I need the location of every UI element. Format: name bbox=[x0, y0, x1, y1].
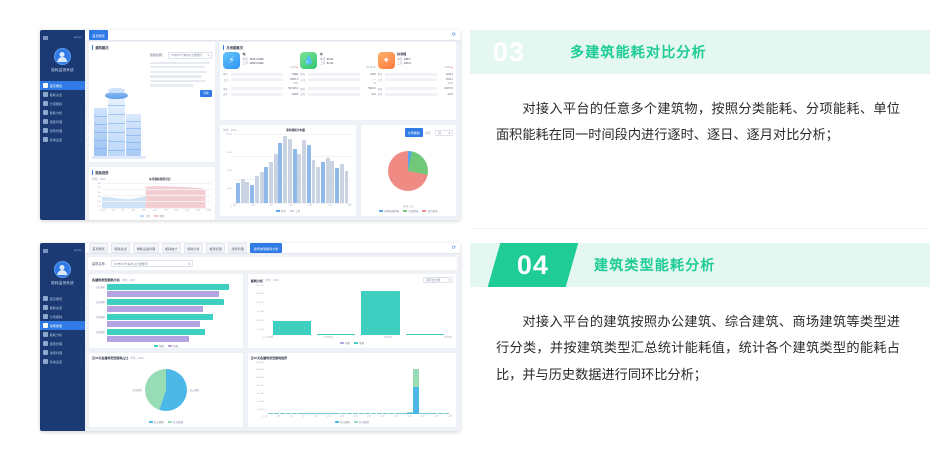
hbar-fill bbox=[107, 284, 229, 290]
menu-icon bbox=[43, 332, 48, 337]
tab-3[interactable]: 能耗统计 bbox=[162, 243, 181, 253]
kpi-bar2-label: 去年 bbox=[300, 92, 306, 96]
kpi-bar2-track bbox=[308, 87, 360, 90]
trend-up-icon: ▲ bbox=[451, 66, 453, 69]
building-description bbox=[150, 62, 212, 87]
building-filter-bar: 建筑名称： XX市XX汽车办公大厦楼宇 ▾ bbox=[88, 257, 457, 270]
pie-toolbar-button[interactable]: 分项能耗 bbox=[405, 128, 423, 137]
menu-icon bbox=[43, 305, 48, 310]
area-chart-sub: 单位：kWh bbox=[92, 177, 105, 181]
kpi-bar-track bbox=[308, 78, 360, 81]
sidebar-item-6[interactable]: 系统设置› bbox=[40, 135, 85, 144]
legend-item-1: 本期 bbox=[354, 341, 364, 345]
kpi-value-number: 51.01 bbox=[327, 62, 334, 65]
building-info: 建筑名称： XX市XX汽车办公大厦楼宇 ▾ bbox=[150, 52, 212, 159]
kpi-value-row-1: 上月51.01 bbox=[320, 61, 376, 65]
building-tower-right bbox=[126, 114, 141, 156]
x-tick-13: 27日 bbox=[434, 415, 438, 419]
stack-title: 近30天各建筑类型能耗趋势 bbox=[251, 356, 287, 360]
vbar-legend: 同期本期 bbox=[251, 341, 453, 345]
legend-label: 本月 bbox=[159, 214, 164, 218]
x-tick-5: 16日 bbox=[153, 209, 157, 213]
y-tick-4: 60,000 bbox=[251, 393, 264, 395]
y-tick-1: 120,000 bbox=[251, 369, 264, 371]
hbar-title: 各建筑类型能耗分析 bbox=[92, 277, 120, 282]
legend-item-1: 空调用电 bbox=[403, 209, 418, 213]
x-tick-5: 20时 bbox=[328, 204, 332, 208]
kpi-value-number: 1456.4 kWh bbox=[249, 62, 263, 65]
legend-swatch bbox=[403, 210, 407, 212]
menu-icon bbox=[43, 137, 48, 142]
y-tick-1: 100,000 bbox=[251, 293, 264, 295]
kpi-bar2-row-0: 本年5946.3 bbox=[300, 87, 375, 91]
sidebar-menu: 首页概览›能耗总览›分项能耗›建筑类型›能耗分析›报表管理›建筑管理›系统设置› bbox=[40, 294, 85, 366]
x-tick-9: 19日 bbox=[380, 415, 384, 419]
chevron-right-icon: › bbox=[81, 120, 82, 124]
kpi-bar-group-1: 本月2403上月—%本年5946.3去年913 bbox=[300, 72, 375, 96]
x-tick-0: 0时 bbox=[233, 204, 236, 208]
y-tick-3: 150 bbox=[92, 196, 101, 198]
sidebar-item-label: 首页概览 bbox=[50, 83, 63, 88]
y-tick-3: 60,000 bbox=[251, 311, 264, 313]
kpi-value-number: 183.4 bbox=[404, 62, 411, 65]
menu-toggle-icon[interactable] bbox=[43, 249, 48, 253]
sidebar-item-4[interactable]: 能耗分析› bbox=[40, 330, 85, 339]
legend-swatch bbox=[276, 210, 280, 212]
hour-bar-7 bbox=[269, 162, 273, 202]
kpi-value-number: 1516.4 kWh bbox=[249, 58, 263, 61]
hbar-track bbox=[107, 329, 240, 335]
area-chart-canvas bbox=[102, 183, 211, 208]
area-chart-x-axis: 1日4日7日10日13日16日19日22日25日28日31日 bbox=[102, 209, 211, 213]
tab-5[interactable]: 报表管理 bbox=[206, 243, 225, 253]
kpi-bar2-track bbox=[385, 87, 437, 90]
x-tick-1: 4日 bbox=[112, 209, 115, 213]
kpi-units: ⚡电本月1516.4 kWh上月1456.4 kWh3.1%▲💧水本月36.01… bbox=[223, 52, 453, 69]
tab-7[interactable]: 建筑类型能耗分析 bbox=[250, 243, 282, 253]
kpi-bar2-value: 2437 bbox=[439, 93, 453, 96]
y-tick-6: 0 bbox=[92, 210, 101, 212]
menu-icon bbox=[43, 323, 48, 328]
building-detail-button[interactable]: 详情 bbox=[200, 90, 212, 97]
sidebar-item-label: 报表管理 bbox=[50, 341, 63, 346]
x-tick-3: 10日 bbox=[131, 209, 135, 213]
y-tick-3: 3000 bbox=[223, 188, 232, 190]
area-chart-title: 能耗趋势 bbox=[92, 170, 212, 175]
sidebar-item-3[interactable]: 建筑类型› bbox=[40, 321, 85, 330]
legend-swatch bbox=[354, 342, 358, 344]
stack-plot: 140,000120,000100,00080,00060,00040,0002… bbox=[251, 362, 453, 419]
x-tick-8: 25日 bbox=[185, 209, 189, 213]
sidebar-item-label: 能耗分析 bbox=[50, 332, 63, 337]
kpi-value-key: 上月 bbox=[320, 61, 325, 65]
hbar-track bbox=[107, 314, 240, 320]
hbar-chart-legend: 本期同期 bbox=[92, 344, 240, 348]
building-illustration bbox=[92, 52, 146, 159]
x-tick-11: 23日 bbox=[407, 415, 411, 419]
kpi-bar-row-1: 上月13651.8 bbox=[223, 78, 298, 82]
area-chart-inner-title: 本月能耗趋势对比 bbox=[149, 177, 171, 181]
x-tick-7: 15日 bbox=[353, 415, 357, 419]
y-tick-0: 300 bbox=[92, 183, 101, 185]
hbar-fill bbox=[107, 321, 200, 327]
type-bar-0 bbox=[273, 321, 311, 335]
sidebar-item-2[interactable]: 分项能耗› bbox=[40, 99, 85, 108]
hbar-row-2-0: 商场建筑 bbox=[92, 314, 240, 320]
chevron-right-icon: › bbox=[81, 111, 82, 115]
x-tick-0: 办公建筑 bbox=[265, 336, 273, 340]
legend-item-0: 本期 bbox=[154, 344, 164, 348]
menu-icon bbox=[43, 101, 48, 106]
area-chart-plot: 300250200150100500 bbox=[92, 183, 212, 213]
legend-label: 办公建筑 bbox=[340, 420, 350, 424]
legend-swatch bbox=[154, 215, 158, 217]
hbar-fill bbox=[107, 314, 213, 320]
kpi-bar-value: 13651.8 bbox=[284, 78, 298, 81]
chevron-down-icon: ▾ bbox=[208, 53, 209, 57]
sidebar-item-2[interactable]: 分项能耗› bbox=[40, 312, 85, 321]
legend-swatch bbox=[379, 210, 383, 212]
stack-x-axis: 1日3日5日7日9日11日13日15日17日19日21日23日25日27日30日 bbox=[265, 415, 452, 419]
x-tick-14: 30日 bbox=[448, 415, 452, 419]
dashboard2-right-column: 能耗分析 单位：kWh 同环比分析 ▾ 120,000100,00080,000… bbox=[247, 273, 457, 428]
area-chart-title-text: 能耗趋势 bbox=[95, 170, 108, 175]
hbar-fill bbox=[107, 336, 189, 342]
topbar-actions: ⟳ bbox=[452, 32, 456, 38]
bar-chart-legend: 本月上月 bbox=[223, 209, 353, 213]
kpi-bar2-value: 5946.3 bbox=[362, 87, 376, 90]
dashboard1-left-column: 建筑概况 bbox=[88, 41, 216, 217]
legend-swatch bbox=[340, 342, 344, 344]
hbar-chart-rows: 办公建筑综合建筑商场建筑其他建筑 bbox=[92, 284, 240, 343]
hour-bar-13 bbox=[297, 154, 301, 202]
dashboard1-sidebar: admin 能耗监测系统 首页概览›能耗总览›分项能耗›能耗分析›报表管理›建筑… bbox=[40, 30, 85, 220]
chevron-right-icon: › bbox=[81, 84, 82, 88]
hbar-track bbox=[107, 321, 240, 327]
hour-bar-21 bbox=[335, 168, 339, 203]
kpi-bar-group-2: 本月1293.6上月1336.42.6%本年40076.5去年2437 bbox=[378, 72, 453, 96]
legend-label: 空调用电 bbox=[408, 209, 418, 213]
kpi-bar2-value: 913 bbox=[362, 93, 376, 96]
chevron-down-icon: ▾ bbox=[188, 262, 189, 266]
x-tick-1: 4时 bbox=[251, 204, 254, 208]
building-roof-disc bbox=[105, 92, 128, 99]
pie-toolbar-label: 时间： bbox=[425, 131, 433, 135]
hour-bar-10 bbox=[283, 136, 287, 202]
tab-4[interactable]: 能耗分析 bbox=[184, 243, 203, 253]
stack-bar-25 bbox=[419, 413, 424, 414]
vbar-sub: 单位：kWh bbox=[265, 278, 278, 282]
kpi-unit-name: 水 bbox=[320, 52, 376, 56]
chevron-down-icon: ▾ bbox=[449, 131, 450, 135]
legend-label: 上月 bbox=[295, 209, 300, 213]
stack-head: 近30天各建筑类型能耗趋势 bbox=[251, 356, 453, 360]
tab-home[interactable]: 首页概览 bbox=[89, 30, 108, 40]
hour-bar-15 bbox=[307, 145, 311, 203]
sidebar-item-6[interactable]: 建筑管理› bbox=[40, 348, 85, 357]
section-04-band: 04 建筑类型能耗分析 bbox=[470, 243, 930, 287]
tab-0[interactable]: 首页概览 bbox=[89, 243, 108, 253]
hour-bar-2 bbox=[245, 182, 249, 203]
pie2-title: 近30天各建筑类型能耗占比 bbox=[92, 356, 128, 360]
legend-swatch bbox=[354, 421, 358, 423]
pie-chart-area bbox=[364, 139, 453, 204]
legend-label: 综合建筑 bbox=[359, 420, 369, 424]
type-bar-2 bbox=[361, 291, 399, 335]
hbar-label: 综合建筑 bbox=[92, 300, 105, 304]
chevron-right-icon: › bbox=[81, 93, 82, 97]
building-select-label: 建筑名称： bbox=[150, 53, 165, 57]
sidebar-item-1[interactable]: 能耗总览› bbox=[40, 303, 85, 312]
trend-up-icon: ▲ bbox=[296, 66, 298, 69]
kpi-bar2-row-0: 本年40076.5 bbox=[378, 87, 453, 91]
kpi-bar2-value: 587163.3 bbox=[284, 87, 298, 90]
sidebar-item-7[interactable]: 系统设置› bbox=[40, 357, 85, 366]
x-tick-10: 21日 bbox=[394, 415, 398, 419]
x-tick-7: 22日 bbox=[174, 209, 178, 213]
sidebar-item-5[interactable]: 建筑管理› bbox=[40, 126, 85, 135]
y-tick-6: 20,000 bbox=[251, 409, 264, 411]
kpi-value-key: 本月 bbox=[320, 57, 325, 61]
legend-swatch bbox=[149, 421, 153, 423]
menu-icon bbox=[43, 341, 48, 346]
dashboard2-sidebar: admin 能耗监测系统 首页概览›能耗总览›分项能耗›建筑类型›能耗分析›报表… bbox=[40, 243, 85, 431]
bar-chart-bars bbox=[233, 134, 352, 203]
y-tick-2: 200 bbox=[92, 192, 101, 194]
hour-bar-5 bbox=[260, 172, 264, 202]
hour-bar-17 bbox=[316, 167, 320, 203]
kpi-bar-pct: % bbox=[300, 83, 375, 85]
hbar-track bbox=[107, 299, 240, 305]
kpi-bar2-label: 本年 bbox=[223, 87, 229, 91]
kpi-unit-name: 电 bbox=[243, 52, 299, 56]
building-tower-left bbox=[94, 108, 107, 156]
sidebar-item-label: 建筑管理 bbox=[50, 350, 63, 355]
y-tick-5: 40,000 bbox=[251, 401, 264, 403]
kpi-bar2-value: 40076.5 bbox=[439, 87, 453, 90]
avatar bbox=[54, 261, 71, 278]
kpi-bar-label: 本月 bbox=[223, 72, 229, 76]
sidebar-item-4[interactable]: 报表管理› bbox=[40, 117, 85, 126]
x-tick-9: 28日 bbox=[196, 209, 200, 213]
kpi-bar-row-0: 本月1293.6 bbox=[378, 72, 453, 76]
sidebar-item-1[interactable]: 能耗总览› bbox=[40, 90, 85, 99]
kpi-bar-group-0: 本月15982上月13651.81.8%本年587163.3去年19843 bbox=[223, 72, 298, 96]
x-tick-2: 8时 bbox=[270, 204, 273, 208]
y-tick-0: 120,000 bbox=[251, 285, 264, 287]
vbar-mode-select[interactable]: 同环比分析 ▾ bbox=[423, 277, 453, 283]
menu-icon bbox=[43, 110, 48, 115]
tab-6[interactable]: 建筑管理 bbox=[228, 243, 247, 253]
legend-label: 上月 bbox=[145, 214, 150, 218]
sidebar-profile: 能耗监测系统 bbox=[51, 48, 74, 73]
x-tick-3: 12时 bbox=[288, 204, 292, 208]
x-tick-3: 7日 bbox=[302, 415, 305, 419]
hbar-sub: 单位：kWh bbox=[122, 278, 135, 282]
x-tick-3: 其他建筑 bbox=[444, 336, 452, 340]
y-tick-4: 0 bbox=[223, 206, 232, 208]
section-divider bbox=[470, 228, 930, 229]
menu-icon bbox=[43, 92, 48, 97]
y-tick-1: 250 bbox=[92, 187, 101, 189]
sidebar-item-3[interactable]: 能耗分析› bbox=[40, 108, 85, 117]
x-tick-6: 13日 bbox=[340, 415, 344, 419]
hbar-track bbox=[107, 284, 240, 290]
hour-bar-18 bbox=[321, 162, 325, 202]
kpi-bar-value: 1336.4 bbox=[439, 78, 453, 81]
kpi-bar-value: 15982 bbox=[284, 73, 298, 76]
y-tick-5: 50 bbox=[92, 206, 101, 208]
legend-swatch bbox=[290, 210, 294, 212]
pie2-head: 近30天各建筑类型能耗占比 单位：kWh bbox=[92, 356, 240, 360]
building-select-value: XX市XX汽车办公大厦楼宇 bbox=[171, 53, 202, 57]
sidebar-item-label: 分项能耗 bbox=[50, 314, 63, 319]
sidebar-item-label: 建筑管理 bbox=[50, 128, 63, 133]
section-03-title: 多建筑能耗对比分析 bbox=[570, 42, 707, 62]
bar-chart-plot: 120009000600030000 0时4时8时12时16时20时23时 bbox=[223, 134, 353, 208]
hbar-track bbox=[107, 306, 240, 312]
sidebar-item-0[interactable]: 首页概览› bbox=[40, 81, 85, 90]
legend-label: 综合建筑 bbox=[173, 420, 183, 424]
kpi-bar-label: 上月 bbox=[300, 78, 306, 82]
user-menu-label[interactable]: admin bbox=[74, 36, 82, 39]
chevron-right-icon: › bbox=[81, 102, 82, 106]
sidebar-menu: 首页概览›能耗总览›分项能耗›能耗分析›报表管理›建筑管理›系统设置› bbox=[40, 81, 85, 144]
kpi-bar-label: 上月 bbox=[378, 78, 384, 82]
area-chart-legend: 上月本月 bbox=[92, 214, 212, 218]
x-tick-6: 23时 bbox=[347, 204, 351, 208]
y-tick-6: 0 bbox=[251, 337, 264, 339]
section-03-paragraph: 对接入平台的任意多个建筑物，按照分类能耗、分项能耗、单位面积能耗在同一时间段内进… bbox=[496, 96, 900, 149]
chevron-right-icon: › bbox=[81, 351, 82, 355]
brand-label: 能耗监测系统 bbox=[51, 68, 74, 73]
kpi-value-number: 188.7 bbox=[404, 58, 411, 61]
tab-1[interactable]: 能耗总览 bbox=[111, 243, 130, 253]
sidebar-item-label: 能耗总览 bbox=[50, 305, 63, 310]
sidebar-item-label: 系统设置 bbox=[50, 359, 63, 364]
legend-label: 办公建筑 bbox=[154, 420, 164, 424]
tab-2[interactable]: 物联设备管理 bbox=[133, 243, 158, 253]
sidebar-item-5[interactable]: 报表管理› bbox=[40, 339, 85, 348]
vbar-title: 能耗分析 bbox=[251, 278, 263, 283]
user-menu-label[interactable]: admin bbox=[74, 249, 82, 252]
kpi-bar-pct: 2.6% bbox=[378, 83, 453, 85]
menu-toggle-icon[interactable] bbox=[43, 36, 48, 40]
kpi-bar2-row-1: 去年2437 bbox=[378, 92, 453, 96]
x-tick-6: 19日 bbox=[163, 209, 167, 213]
legend-item-1: 综合建筑 bbox=[354, 420, 369, 424]
kpi-value-key: 本月 bbox=[397, 57, 402, 61]
hbar-row-0-0: 办公建筑 bbox=[92, 284, 240, 290]
x-tick-5: 11日 bbox=[326, 415, 330, 419]
hbar-track bbox=[107, 336, 240, 342]
chevron-right-icon: › bbox=[81, 297, 82, 301]
topbar-actions: ⟳ bbox=[452, 245, 456, 251]
menu-icon bbox=[43, 119, 48, 124]
building-tower-center bbox=[108, 96, 125, 156]
kpi-delta: 2.9%▲ bbox=[445, 66, 453, 69]
x-tick-4: 9日 bbox=[314, 415, 317, 419]
sidebar-item-label: 能耗总览 bbox=[50, 92, 63, 97]
x-tick-4: 16时 bbox=[308, 204, 312, 208]
kpi-bar2-value: 19843 bbox=[284, 93, 298, 96]
pie-period-select[interactable]: 月 ▾ bbox=[435, 130, 453, 136]
legend-swatch bbox=[335, 421, 339, 423]
kpi-value-row-1: 上月183.4 bbox=[397, 61, 453, 65]
refresh-icon[interactable]: ⟳ bbox=[452, 245, 456, 251]
legend-swatch bbox=[140, 215, 144, 217]
pie-period-value: 月 bbox=[438, 131, 441, 135]
kpi-value-key: 上月 bbox=[243, 61, 248, 65]
kpi-bar2-track bbox=[308, 93, 360, 96]
hbar-fill bbox=[107, 299, 224, 305]
legend-item-1: 本月 bbox=[154, 214, 164, 218]
kpi-value-row-0: 本月36.01 bbox=[320, 57, 376, 61]
legend-label: 动力用电 bbox=[428, 209, 438, 213]
sidebar-item-label: 能耗分析 bbox=[50, 110, 63, 115]
kpi-bar2-row-1: 去年19843 bbox=[223, 92, 298, 96]
sidebar-item-label: 分项能耗 bbox=[50, 101, 63, 106]
hbar-row-1-0: 综合建筑 bbox=[92, 299, 240, 305]
legend-item-2: 动力用电 bbox=[422, 209, 437, 213]
kpi-value-row-0: 本月188.7 bbox=[397, 57, 453, 61]
dashboard2-body: 各建筑类型能耗分析 单位：kWh 办公建筑综合建筑商场建筑其他建筑 本期同期 近… bbox=[85, 273, 460, 431]
filter-select[interactable]: XX市XX汽车办公大厦楼宇 ▾ bbox=[111, 260, 193, 267]
stack-bar-28 bbox=[438, 413, 443, 414]
legend-label: 同期 bbox=[345, 341, 350, 345]
dashboard2-tabbar: 首页概览能耗总览物联设备管理能耗统计能耗分析报表管理建筑管理建筑类型能耗分析⟳ bbox=[85, 243, 460, 254]
y-tick-4: 100 bbox=[92, 201, 101, 203]
energy-kpi-card: 月用能概况 ⚡电本月1516.4 kWh上月1456.4 kWh3.1%▲💧水本… bbox=[219, 41, 457, 121]
building-roof-top bbox=[108, 88, 125, 93]
refresh-icon[interactable]: ⟳ bbox=[452, 32, 456, 38]
vbar-head: 能耗分析 单位：kWh 同环比分析 ▾ bbox=[251, 277, 453, 283]
y-tick-5: 20,000 bbox=[251, 329, 264, 331]
kpi-delta: 29.4%▼ bbox=[366, 66, 376, 69]
sidebar-item-0[interactable]: 首页概览› bbox=[40, 294, 85, 303]
kpi-bar-row-0: 本月15982 bbox=[223, 72, 298, 76]
energy-stack-card: 近30天各建筑类型能耗趋势 140,000120,000100,00080,00… bbox=[247, 352, 457, 428]
kpi-bar-track bbox=[231, 73, 283, 76]
pie2-sub: 单位：kWh bbox=[130, 356, 143, 360]
legend-label: 本月 bbox=[281, 209, 286, 213]
hbar-label: 办公建筑 bbox=[92, 285, 105, 289]
x-tick-2: 5日 bbox=[289, 415, 292, 419]
hbar-row-3-1 bbox=[92, 336, 240, 342]
kpi-unit-0: ⚡电本月1516.4 kWh上月1456.4 kWh3.1%▲ bbox=[223, 52, 298, 69]
pie2-legend: 办公建筑综合建筑 bbox=[92, 420, 240, 424]
x-tick-0: 1日 bbox=[265, 415, 268, 419]
pie2-chart bbox=[145, 369, 187, 411]
area-chart-y-axis: 300250200150100500 bbox=[92, 183, 101, 213]
y-tick-2: 6000 bbox=[223, 170, 232, 172]
x-tick-2: 商场建筑 bbox=[384, 336, 392, 340]
kpi-bar-row-1: 上月— bbox=[300, 78, 375, 82]
legend-item-1: 综合建筑 bbox=[168, 420, 183, 424]
lightning-icon: ⚡ bbox=[223, 52, 240, 69]
menu-icon bbox=[43, 296, 48, 301]
menu-icon bbox=[43, 314, 48, 319]
section-03-body: 对接入平台的任意多个建筑物，按照分类能耗、分项能耗、单位面积能耗在同一时间段内进… bbox=[470, 74, 930, 149]
legend-item-1: 同期 bbox=[168, 344, 178, 348]
kpi-value-key: 本月 bbox=[243, 57, 248, 61]
pie-center-label: 能耗 占比 bbox=[364, 204, 453, 208]
bar-chart-head: 单位：kWh 逐时能耗分布图 bbox=[223, 128, 353, 132]
sidebar-item-label: 首页概览 bbox=[50, 296, 63, 301]
building-select[interactable]: XX市XX汽车办公大厦楼宇 ▾ bbox=[168, 52, 212, 59]
hour-bar-11 bbox=[288, 139, 292, 202]
pie-chart bbox=[388, 151, 428, 191]
